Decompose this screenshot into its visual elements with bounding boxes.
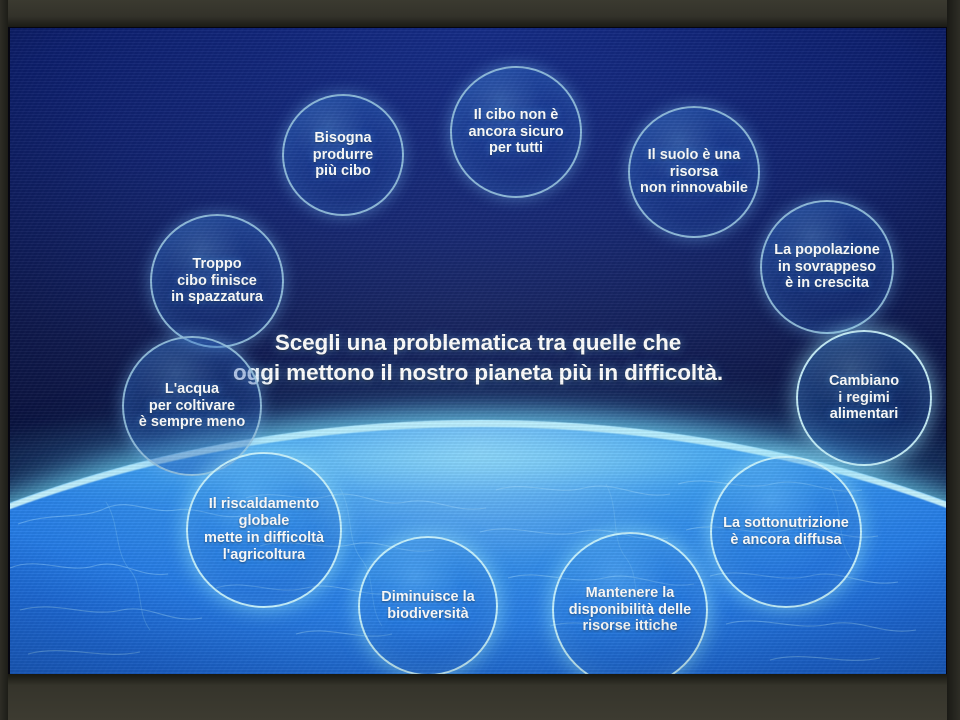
screen-vignette: [10, 28, 946, 676]
monitor-bezel-left: [0, 0, 8, 720]
monitor-bezel-bottom: [0, 674, 960, 720]
screenshot-root: Scegli una problematica tra quelle che o…: [0, 0, 960, 720]
monitor-bezel-right: [947, 0, 960, 720]
slide-screen: Scegli una problematica tra quelle che o…: [10, 28, 946, 676]
monitor-bezel-top: [0, 0, 960, 27]
